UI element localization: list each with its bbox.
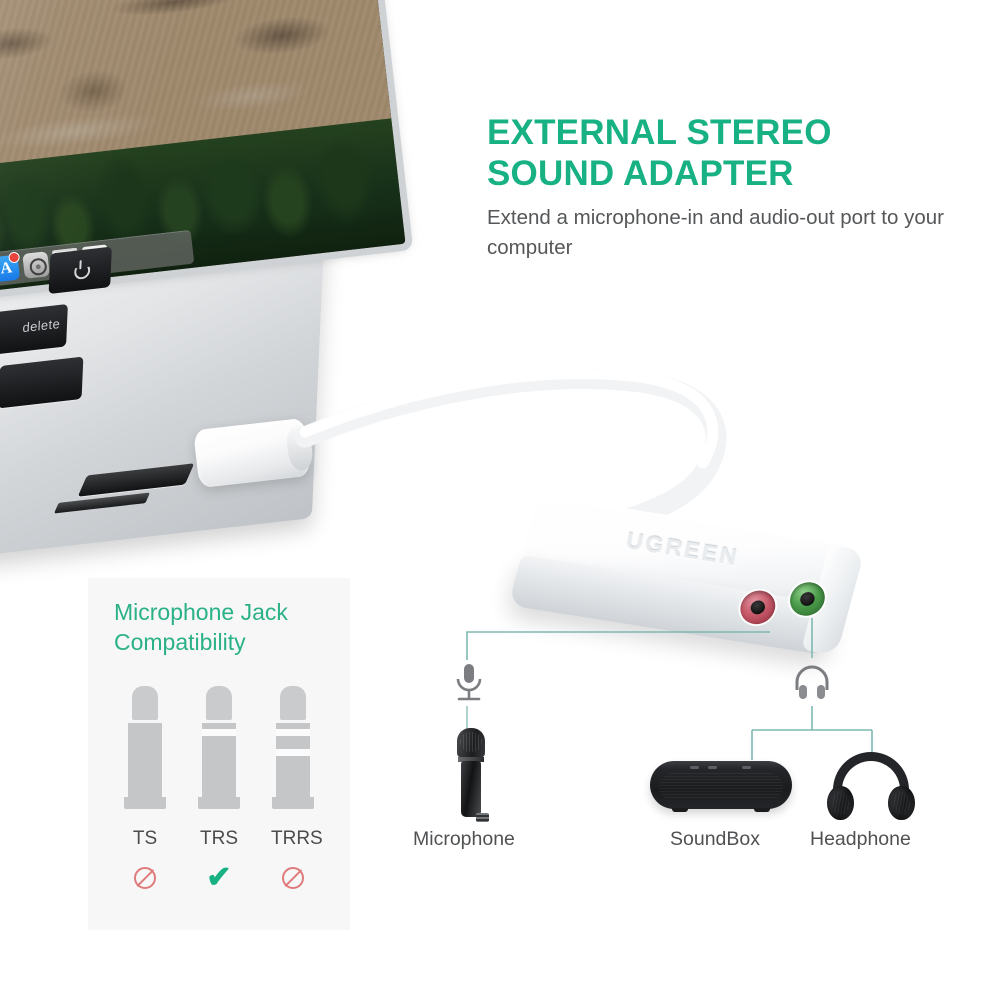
jack-ts (123, 686, 167, 809)
jack-illustrations (88, 686, 350, 809)
prohibited-icon (134, 867, 156, 889)
jack-tip (280, 686, 306, 720)
headphone-earcup-left (827, 786, 854, 820)
jack-labels: TS TRS TRRS (88, 828, 350, 850)
speaker-foot (672, 808, 688, 812)
jack-label-trs: TRS (197, 828, 241, 850)
compat-panel-title: Microphone Jack Compatibility (114, 598, 334, 658)
jack-base (198, 797, 240, 809)
jack-tip (206, 686, 232, 720)
jack-base (272, 797, 314, 809)
jack-support-marks: ✔ (88, 863, 350, 893)
jack-label-ts: TS (123, 828, 167, 850)
jack-ring (202, 729, 236, 736)
caption-soundbox: SoundBox (670, 828, 760, 851)
compat-title-line-2: Compatibility (114, 628, 334, 658)
jack-ring (276, 729, 310, 736)
microphone-jack-compatibility-panel: Microphone Jack Compatibility (88, 578, 350, 930)
speaker-foot (754, 808, 770, 812)
headphone-photo (827, 752, 915, 820)
jack-label-trrs: TRRS (271, 828, 315, 850)
mic-handle (461, 761, 481, 817)
mark-trs: ✔ (197, 863, 241, 893)
jack-base (124, 797, 166, 809)
jack-tip (132, 686, 158, 720)
compat-title-line-1: Microphone Jack (114, 598, 334, 628)
speaker-button (742, 766, 751, 769)
mark-ts (123, 863, 167, 893)
caption-headphone: Headphone (810, 828, 911, 851)
microphone-icon (452, 662, 486, 711)
headphone-icon (792, 660, 832, 707)
soundbox-photo (650, 761, 792, 809)
jack-shaft (276, 723, 310, 797)
product-marketing-image: delete UGREEN EXTERNAL STEREO SOUND ADAP… (0, 0, 1000, 1000)
mark-trrs (271, 863, 315, 893)
microphone-photo (449, 728, 493, 820)
jack-trrs (271, 686, 315, 809)
mic-switch (476, 813, 489, 822)
mic-grille (457, 728, 485, 758)
jack-shaft (128, 723, 162, 797)
caption-microphone: Microphone (413, 828, 515, 851)
speaker-button (690, 766, 699, 769)
speaker-button (708, 766, 717, 769)
jack-trs (197, 686, 241, 809)
headphone-earcup-right (888, 786, 915, 820)
jack-shaft (202, 723, 236, 797)
jack-ring (276, 749, 310, 756)
check-icon: ✔ (206, 863, 231, 893)
prohibited-icon (282, 867, 304, 889)
